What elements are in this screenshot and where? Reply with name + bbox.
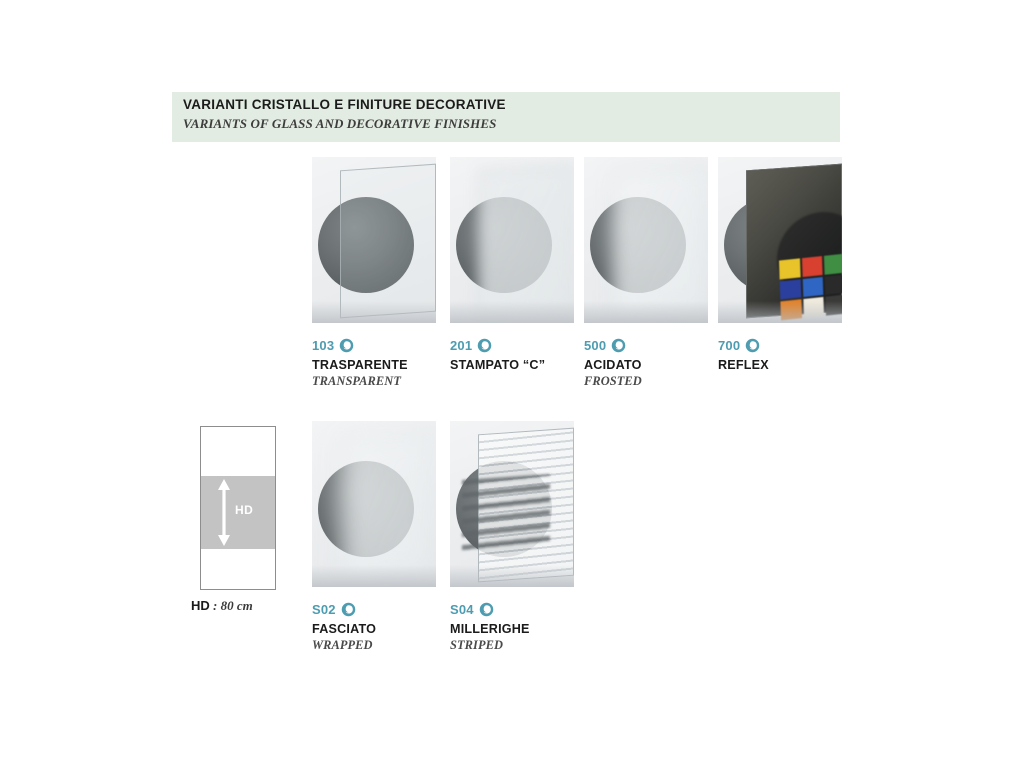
finish-code: S04 xyxy=(450,602,474,617)
finish-code: 500 xyxy=(584,338,606,353)
finish-code: 201 xyxy=(450,338,472,353)
finish-name-en: WRAPPED xyxy=(312,638,436,653)
finish-name-en: TRANSPARENT xyxy=(312,374,436,389)
finish-code-line: 201 xyxy=(450,336,574,354)
finish-name-it: REFLEX xyxy=(718,358,842,372)
photo-sphere-striped-smear xyxy=(462,474,550,554)
drop-circle-icon xyxy=(479,602,494,617)
finish-card-103[interactable]: 103 TRASPARENTE TRANSPARENT xyxy=(312,157,436,389)
page-title: VARIANTI CRISTALLO E FINITURE DECORATIVE xyxy=(183,97,506,112)
finish-card-700[interactable]: 700 REFLEX xyxy=(718,157,842,374)
finish-code: 700 xyxy=(718,338,740,353)
drop-circle-icon xyxy=(611,338,626,353)
drop-circle-icon xyxy=(341,602,356,617)
finish-code: 103 xyxy=(312,338,334,353)
photo-shadow xyxy=(450,301,574,323)
photo-glass-pane xyxy=(612,164,708,319)
hd-caption-value: 80 cm xyxy=(221,598,253,613)
finish-code: S02 xyxy=(312,602,336,617)
finish-name-en: STRIPED xyxy=(450,638,574,653)
finish-code-line: S04 xyxy=(450,600,574,618)
photo-shadow xyxy=(718,301,842,323)
finish-code-line: 103 xyxy=(312,336,436,354)
finish-image-stampato-c xyxy=(450,157,574,323)
hd-dimension-diagram: HD xyxy=(200,426,276,590)
finish-image-transparent xyxy=(312,157,436,323)
photo-glass-fluting xyxy=(479,165,573,318)
photo-glass-pane xyxy=(340,428,436,583)
finish-card-201[interactable]: 201 STAMPATO “C” xyxy=(450,157,574,374)
section-header-band: VARIANTI CRISTALLO E FINITURE DECORATIVE… xyxy=(172,92,840,142)
hd-caption: HD : 80 cm xyxy=(191,598,331,614)
photo-shadow xyxy=(450,565,574,587)
finish-card-s04[interactable]: S04 MILLERIGHE STRIPED xyxy=(450,421,574,653)
photo-shadow xyxy=(312,565,436,587)
finish-image-reflex xyxy=(718,157,842,323)
photo-shadow xyxy=(312,301,436,323)
drop-circle-icon xyxy=(477,338,492,353)
finish-code-line: 700 xyxy=(718,336,842,354)
page-subtitle: VARIANTS OF GLASS AND DECORATIVE FINISHE… xyxy=(183,116,496,132)
drop-circle-icon xyxy=(745,338,760,353)
finish-name-it: MILLERIGHE xyxy=(450,622,574,636)
finish-name-it: ACIDATO xyxy=(584,358,708,372)
finish-name-en: FROSTED xyxy=(584,374,708,389)
finish-name-it: STAMPATO “C” xyxy=(450,358,574,372)
finish-card-s02[interactable]: S02 FASCIATO WRAPPED xyxy=(312,421,436,653)
finish-image-millerighe xyxy=(450,421,574,587)
hd-double-arrow-icon xyxy=(217,479,231,546)
finish-image-acidato xyxy=(584,157,708,323)
photo-shadow xyxy=(584,301,708,323)
finish-card-500[interactable]: 500 ACIDATO FROSTED xyxy=(584,157,708,389)
finish-code-line: 500 xyxy=(584,336,708,354)
hd-band-label: HD xyxy=(235,503,253,517)
finish-name-it: TRASPARENTE xyxy=(312,358,436,372)
finish-code-line: S02 xyxy=(312,600,436,618)
hd-caption-key: HD xyxy=(191,598,210,613)
finish-image-fasciato xyxy=(312,421,436,587)
hd-caption-separator: : xyxy=(210,598,221,613)
photo-glass-pane xyxy=(478,164,574,319)
drop-circle-icon xyxy=(339,338,354,353)
finish-name-it: FASCIATO xyxy=(312,622,436,636)
photo-glass-pane xyxy=(340,164,436,319)
